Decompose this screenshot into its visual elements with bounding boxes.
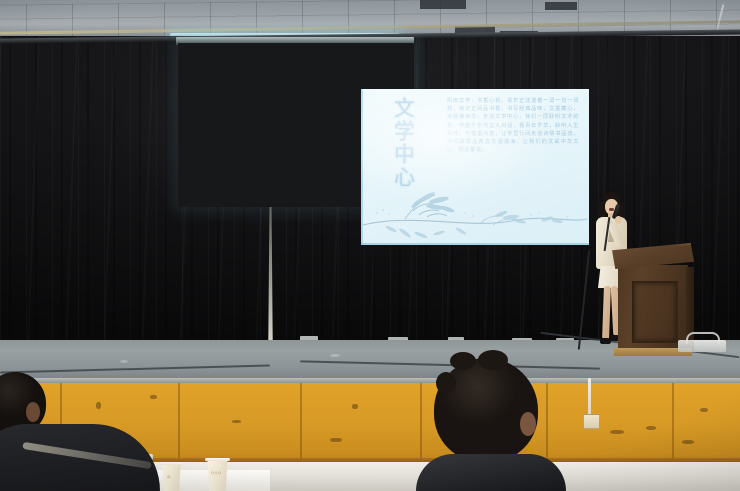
floor-mark	[330, 354, 340, 357]
audience-hair-tuft	[450, 352, 476, 370]
audience-shoulders	[416, 454, 566, 491]
audience-ear	[520, 412, 536, 436]
auditorium-photo: 文学中心 风雨文学，书香心氛。青芒正沈淀着一词一句一词那，铭记正间品书香，书写经…	[0, 0, 740, 491]
paper-cup-rim	[205, 458, 230, 461]
slide-title: 文学中心	[391, 97, 415, 189]
presenter-leg	[602, 286, 611, 340]
paper-cup-rim	[160, 462, 183, 465]
wall-scuff	[646, 426, 656, 430]
wall-scuff	[352, 404, 358, 409]
podium-front-panel	[632, 281, 678, 343]
wall-scuff	[682, 440, 694, 444]
floor-mark	[120, 360, 128, 363]
paper-cup-logo: ◇◇◇	[211, 470, 221, 475]
audience-hair-tuft	[436, 372, 456, 394]
stage-equipment-box	[678, 340, 726, 352]
paper-cup	[206, 459, 229, 491]
wall-scuff	[232, 420, 241, 423]
panel-seam	[300, 383, 302, 464]
slide-body-text: 风雨文学，书香心氛。青芒正沈淀着一词一句一词那，铭记正间品书香，书写经典品味，文…	[447, 97, 579, 155]
paper-cup-logo: ◎	[167, 474, 171, 479]
screen-bottom-edge	[361, 243, 589, 245]
wall-scuff	[700, 408, 708, 412]
paper-cup	[161, 463, 182, 491]
wall-scuff	[610, 430, 624, 434]
presenter-hand	[615, 216, 622, 224]
screen-left-edge	[361, 89, 363, 245]
panel-seam	[672, 383, 674, 464]
wall-scuff	[330, 438, 342, 442]
audience-hair-tuft	[478, 350, 508, 370]
projection-screen: 文学中心 风雨文学，书香心氛。青芒正沈淀着一词一句一词那，铭记正间品书香，书写经…	[361, 89, 589, 245]
projection-screen-frame: 文学中心 风雨文学，书香心氛。青芒正沈淀着一词一句一词那，铭记正间品书香，书写经…	[178, 43, 414, 207]
ceiling-vent	[420, 0, 466, 9]
audience-member-right	[420, 358, 600, 491]
panel-seam	[178, 383, 180, 464]
audience-member-left	[0, 372, 160, 491]
bamboo-ornament-icon	[361, 183, 589, 245]
ceiling-vent	[545, 2, 577, 10]
audience-ear	[26, 402, 40, 422]
